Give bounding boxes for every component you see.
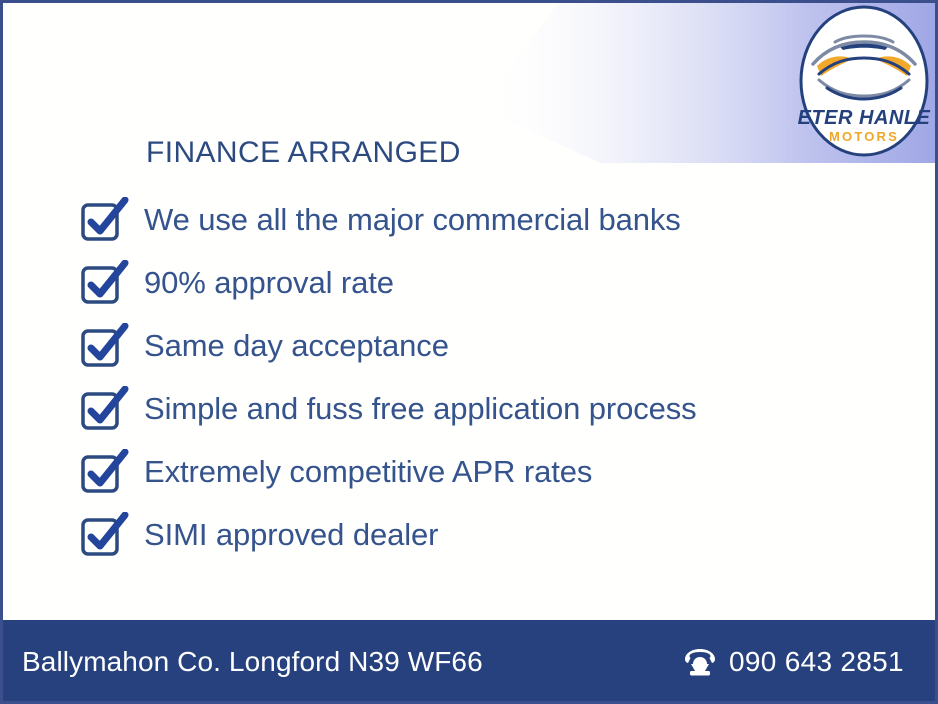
logo-brand-sub: MOTORS [829,129,899,144]
list-item-label: Same day acceptance [144,330,449,361]
list-item: Simple and fuss free application process [80,377,900,440]
list-item-label: Extremely competitive APR rates [144,456,592,487]
checkbox-checked-icon [80,323,130,369]
list-item: Extremely competitive APR rates [80,440,900,503]
page-title: FINANCE ARRANGED [146,136,461,170]
phone-number: 090 643 2851 [729,646,904,678]
list-item: Same day acceptance [80,314,900,377]
finance-arranged-poster: PETER HANLEY MOTORS FINANCE ARRANGED We … [0,0,938,704]
telephone-icon [683,647,717,677]
dealer-address: Ballymahon Co. Longford N39 WF66 [22,646,483,678]
list-item: 90% approval rate [80,251,900,314]
checkbox-checked-icon [80,386,130,432]
benefits-checklist: We use all the major commercial banks 90… [80,188,900,566]
list-item-label: We use all the major commercial banks [144,204,681,235]
phone-contact[interactable]: 090 643 2851 [683,646,904,678]
checkbox-checked-icon [80,449,130,495]
list-item-label: 90% approval rate [144,267,394,298]
contact-footer-bar: Ballymahon Co. Longford N39 WF66 090 643… [3,620,935,704]
list-item: We use all the major commercial banks [80,188,900,251]
checkbox-checked-icon [80,512,130,558]
list-item-label: SIMI approved dealer [144,519,438,550]
logo-brand-name: PETER HANLEY [797,107,931,129]
list-item-label: Simple and fuss free application process [144,393,697,424]
peter-hanley-motors-logo: PETER HANLEY MOTORS [797,4,931,158]
list-item: SIMI approved dealer [80,503,900,566]
checkbox-checked-icon [80,197,130,243]
checkbox-checked-icon [80,260,130,306]
